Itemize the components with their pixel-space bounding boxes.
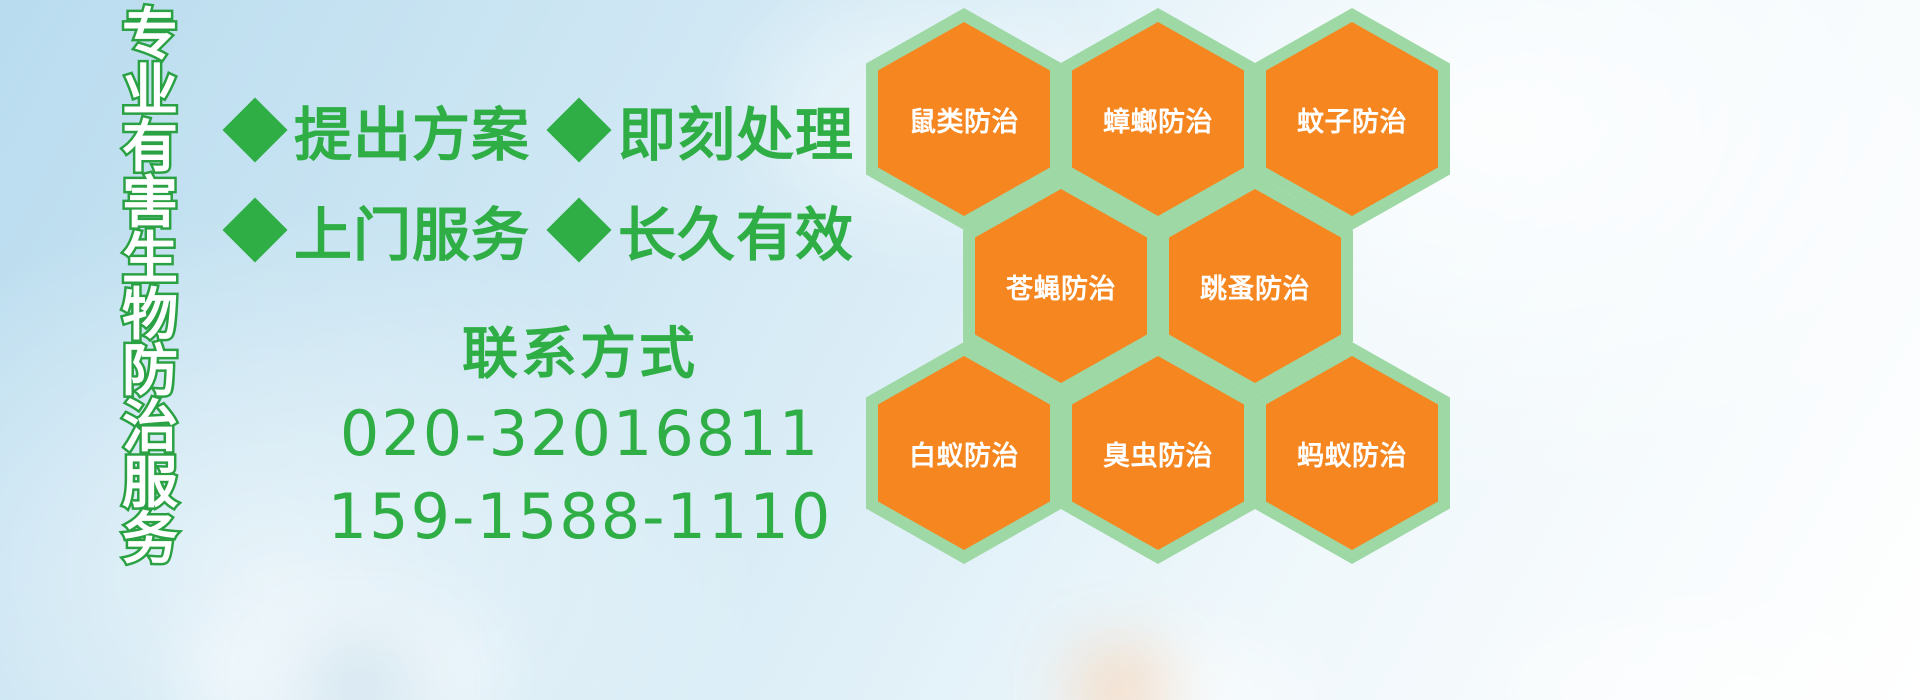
vertical-headline-char: 有 <box>122 120 178 176</box>
hexagon-inner: 蚊子防治 <box>1266 22 1438 216</box>
service-label: 蟑螂防治 <box>1103 100 1213 139</box>
service-label: 臭虫防治 <box>1103 434 1213 473</box>
feature-label: 上门服务 <box>294 188 530 272</box>
feature-list: 提出方案 即刻处理 上门服务 长久有效 <box>232 80 872 280</box>
service-hexagon-grid: 鼠类防治 蟑螂防治 蚊子防治 苍蝇防治 跳蚤防治 白蚁防治 <box>858 0 1458 700</box>
vertical-headline-char: 专 <box>122 8 178 64</box>
hexagon-inner: 跳蚤防治 <box>1169 189 1341 383</box>
service-label: 跳蚤防治 <box>1200 267 1310 306</box>
vertical-headline-char: 害 <box>122 176 178 232</box>
hexagon-inner: 鼠类防治 <box>878 22 1050 216</box>
service-label: 苍蝇防治 <box>1006 267 1116 306</box>
background-blob-right <box>1500 610 1920 700</box>
vertical-headline: 专 业 有 害 生 物 防 治 服 务 <box>104 8 196 560</box>
hexagon-inner: 臭虫防治 <box>1072 356 1244 550</box>
contact-block: 联系方式 020-32016811 159-1588-1110 <box>300 320 860 557</box>
feature-row: 上门服务 长久有效 <box>232 180 872 280</box>
background-blob-left-accent <box>300 648 420 700</box>
vertical-headline-char: 生 <box>122 232 178 288</box>
vertical-headline-char: 业 <box>122 64 178 120</box>
service-label: 蚂蚁防治 <box>1297 434 1407 473</box>
vertical-headline-char: 服 <box>122 456 178 512</box>
diamond-icon <box>546 97 611 162</box>
feature-item: 即刻处理 <box>556 88 854 172</box>
contact-phone-mobile[interactable]: 159-1588-1110 <box>300 477 860 556</box>
vertical-headline-char: 务 <box>122 512 178 568</box>
service-label: 白蚁防治 <box>909 434 1019 473</box>
feature-label: 长久有效 <box>618 188 854 272</box>
diamond-icon <box>546 197 611 262</box>
diamond-icon <box>222 197 287 262</box>
hexagon-inner: 蟑螂防治 <box>1072 22 1244 216</box>
vertical-headline-char: 防 <box>122 344 178 400</box>
vertical-headline-char: 治 <box>122 400 178 456</box>
background-blob-left <box>180 600 500 700</box>
contact-phone-landline[interactable]: 020-32016811 <box>300 394 860 473</box>
contact-title: 联系方式 <box>300 320 860 390</box>
service-label: 鼠类防治 <box>909 100 1019 139</box>
feature-label: 提出方案 <box>294 88 530 172</box>
feature-row: 提出方案 即刻处理 <box>232 80 872 180</box>
feature-item: 长久有效 <box>556 188 854 272</box>
feature-item: 提出方案 <box>232 88 530 172</box>
service-label: 蚊子防治 <box>1297 100 1407 139</box>
hexagon-inner: 苍蝇防治 <box>975 189 1147 383</box>
hexagon-inner: 白蚁防治 <box>878 356 1050 550</box>
feature-item: 上门服务 <box>232 188 530 272</box>
feature-label: 即刻处理 <box>618 88 854 172</box>
vertical-headline-char: 物 <box>122 288 178 344</box>
diamond-icon <box>222 97 287 162</box>
pest-control-banner: 专 业 有 害 生 物 防 治 服 务 提出方案 即刻处理 上门服务 <box>0 0 1920 700</box>
hexagon-inner: 蚂蚁防治 <box>1266 356 1438 550</box>
